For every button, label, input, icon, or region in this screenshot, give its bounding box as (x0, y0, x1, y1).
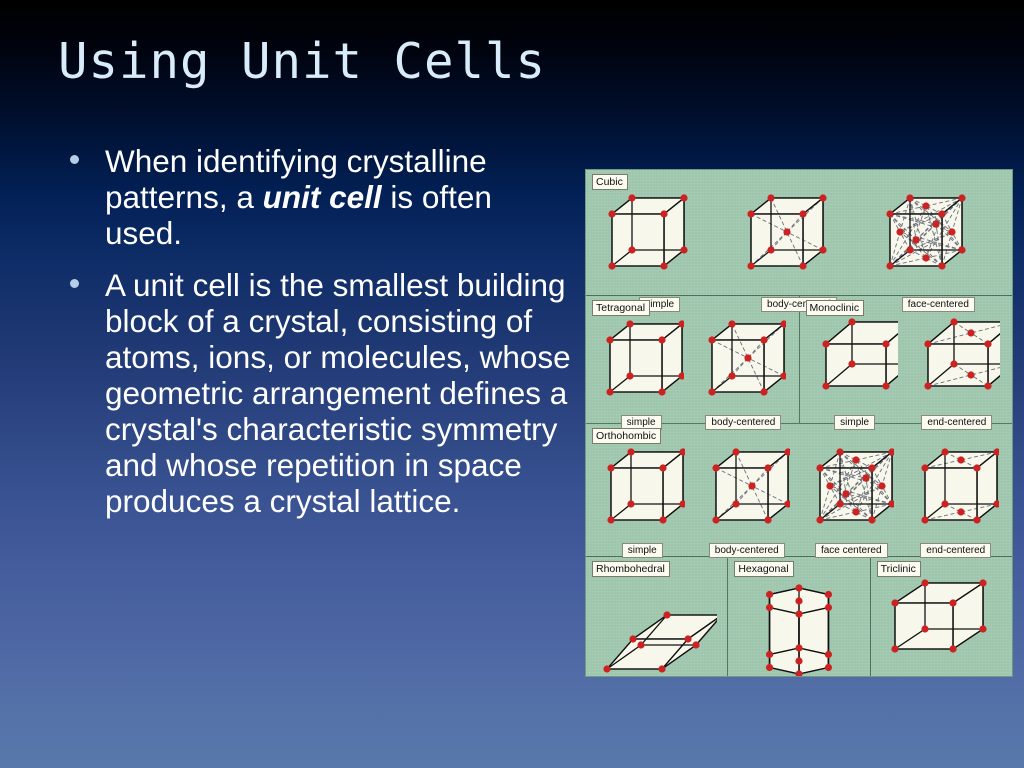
lattice-cell-diagram (878, 188, 998, 296)
lattice-cell-diagram (914, 314, 1000, 414)
lattice-row: RhombohedralHexagonalTriclinic (586, 557, 1012, 676)
bullet-dot-icon (70, 155, 79, 164)
lattice-cell-diagram (600, 188, 720, 296)
lattice-group-triclinic: Triclinic (871, 557, 1012, 676)
lattice-row: Orthohombicsimplebody-centeredface cente… (586, 424, 1012, 557)
lattice-cell-diagram (704, 442, 790, 542)
slide-canvas: Using Unit Cells When identifying crysta… (0, 0, 1024, 768)
lattice-cell: face centered (808, 442, 894, 558)
bullet-emphasis-text: unit cell (263, 179, 382, 215)
lattice-cell-label: simple (622, 543, 663, 558)
lattice-cell-diagram (739, 575, 859, 677)
bullet-item: When identifying crystalline patterns, a… (62, 143, 572, 251)
lattice-cell: simple (599, 442, 685, 558)
lattice-cell: simple (598, 314, 684, 430)
lattice-group-title: Cubic (592, 174, 628, 190)
lattice-cell-label: end-centered (920, 543, 991, 558)
lattice-group-title: Tetragonal (592, 300, 650, 316)
bullet-dot-icon (70, 279, 79, 288)
lattice-cell (881, 575, 1001, 677)
lattice-group-title: Orthohombic (592, 428, 661, 444)
lattice-cell: body-centered (739, 188, 859, 312)
lattice-cell (597, 575, 717, 677)
lattice-cell-diagram (913, 442, 999, 542)
bullet-list: When identifying crystalline patterns, a… (62, 143, 572, 535)
lattice-group-title: Hexagonal (734, 561, 793, 577)
lattice-cell-diagram (599, 442, 685, 542)
lattice-cell: end-centered (914, 314, 1000, 430)
lattice-group-rhombohedral: Rhombohedral (586, 557, 728, 676)
lattice-cell: end-centered (913, 442, 999, 558)
lattice-group-cubic: Cubicsimplebody-centeredface-centered (586, 170, 1012, 295)
crystal-lattice-systems-image: Cubicsimplebody-centeredface-centeredTet… (585, 169, 1013, 677)
lattice-group-monoclinic: Monoclinicsimpleend-centered (800, 296, 1013, 423)
lattice-cell: body-centered (700, 314, 786, 430)
lattice-cell: simple (600, 188, 720, 312)
lattice-group-title: Monoclinic (806, 300, 865, 316)
lattice-cell-diagram (739, 188, 859, 296)
lattice-cell-diagram (808, 442, 894, 542)
bullet-text: A unit cell is the smallest building blo… (105, 267, 571, 519)
lattice-cell-diagram (597, 575, 717, 677)
lattice-cell (739, 575, 859, 677)
bullet-item: A unit cell is the smallest building blo… (62, 267, 572, 519)
page-title: Using Unit Cells (58, 34, 958, 90)
lattice-group-title: Triclinic (877, 561, 921, 577)
lattice-row: Tetragonalsimplebody-centeredMonoclinics… (586, 296, 1012, 424)
lattice-cell-diagram (700, 314, 786, 414)
lattice-group-tetragonal: Tetragonalsimplebody-centered (586, 296, 800, 423)
lattice-cell-diagram (812, 314, 898, 414)
lattice-cell: face-centered (878, 188, 998, 312)
lattice-cell: simple (812, 314, 898, 430)
lattice-cell-label: body-centered (709, 543, 785, 558)
lattice-row: Cubicsimplebody-centeredface-centered (586, 170, 1012, 296)
lattice-group-title: Rhombohedral (592, 561, 670, 577)
lattice-group-orthohombic: Orthohombicsimplebody-centeredface cente… (586, 424, 1012, 556)
lattice-cell-diagram (598, 314, 684, 414)
lattice-cell: body-centered (704, 442, 790, 558)
lattice-group-hexagonal: Hexagonal (728, 557, 870, 676)
lattice-cell-label: face centered (815, 543, 888, 558)
lattice-cell-diagram (881, 575, 1001, 677)
